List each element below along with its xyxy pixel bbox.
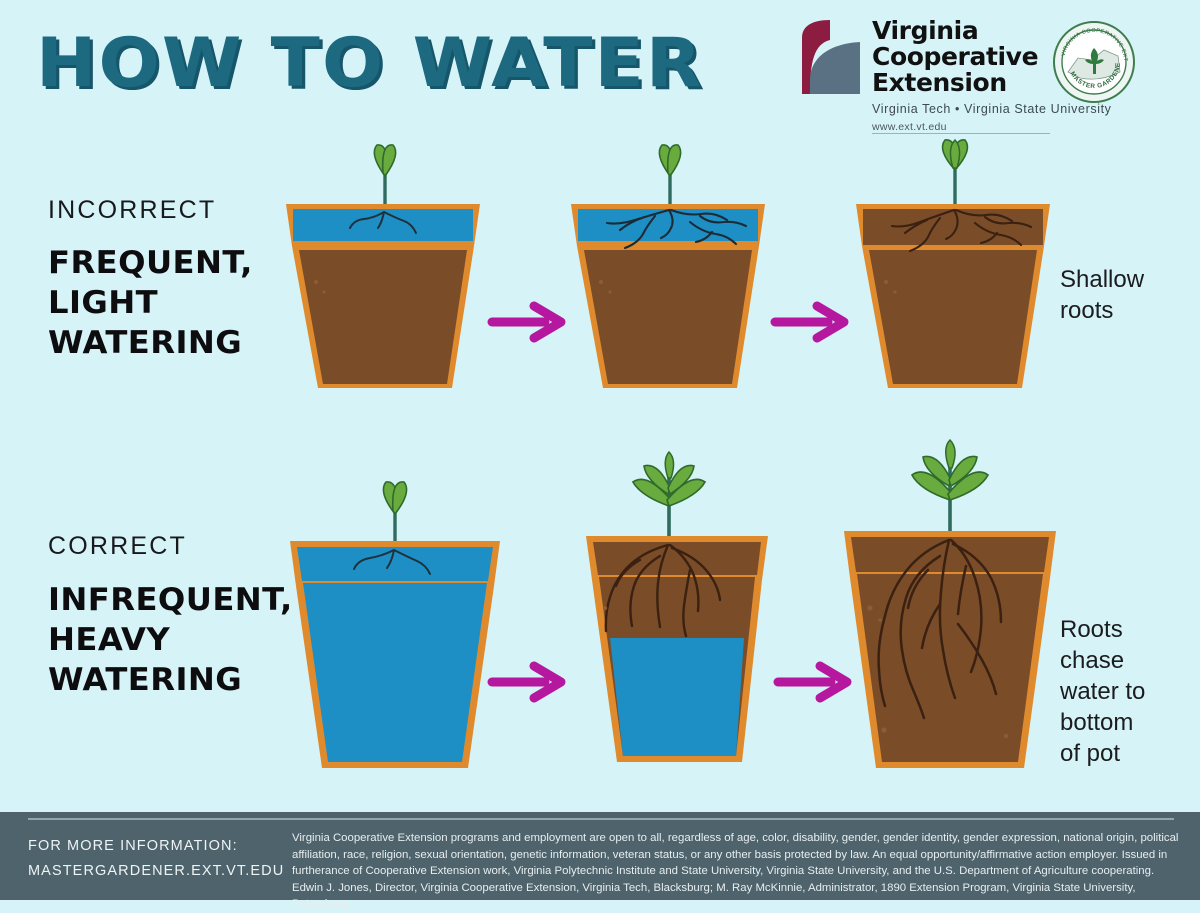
poster-canvas: HOW TO WATER Virginia Cooperative Extens…: [0, 0, 1200, 900]
arrow-row1-1: [492, 306, 561, 338]
seedling-small-3: [943, 140, 968, 205]
seedling-small-2: [659, 145, 680, 205]
pot-row1-stage3: [856, 140, 1050, 388]
pot-row2-stage2: [586, 452, 768, 762]
arrow-row2-2: [778, 666, 847, 698]
arrow-row1-2: [775, 306, 844, 338]
footer-bar: FOR MORE INFORMATION: MASTERGARDENER.EXT…: [0, 812, 1200, 900]
arrow-row2-1: [492, 666, 561, 698]
seedling-medium-5: [633, 452, 705, 538]
pot-row2-stage1: [290, 482, 500, 768]
more-info-block: FOR MORE INFORMATION: MASTERGARDENER.EXT…: [28, 834, 284, 884]
seedling-small-4: [383, 482, 406, 546]
pot-row1-stage2: [571, 145, 765, 388]
seedling-small-1: [374, 145, 395, 205]
seedling-large-6: [912, 440, 988, 532]
watering-illustration-diagram: [0, 0, 1200, 812]
footer-disclaimer: Virginia Cooperative Extension programs …: [292, 830, 1182, 913]
pot-row2-stage3: [844, 440, 1056, 768]
more-info-url[interactable]: MASTERGARDENER.EXT.VT.EDU: [28, 859, 284, 884]
more-info-label: FOR MORE INFORMATION:: [28, 834, 284, 859]
pot-row1-stage1: [286, 145, 480, 388]
footer-divider: [28, 818, 1174, 820]
